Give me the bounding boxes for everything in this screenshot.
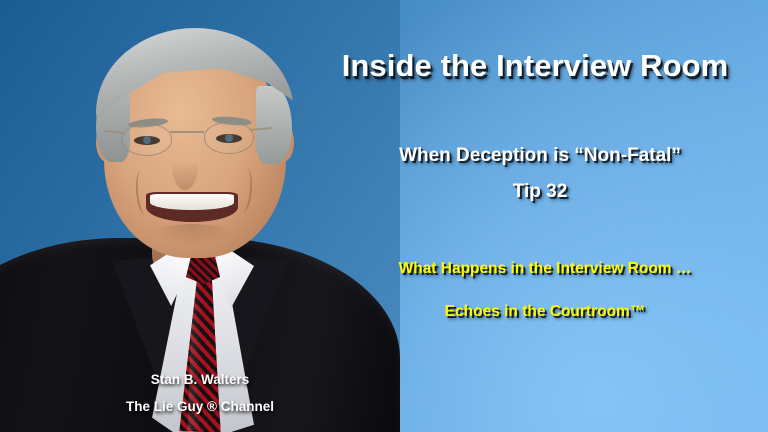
eyeglasses-bridge [170,131,204,133]
channel-name: The Lie Guy ® Channel [60,393,340,420]
tagline-line-2: Echoes in the Courtroom™ [340,290,750,333]
teeth [150,194,234,210]
speaker-credit: Stan B. Walters The Lie Guy ® Channel [60,366,340,420]
eyeglasses-lens-left [122,124,172,156]
subtitle-line-1: When Deception is “Non-Fatal” [330,138,750,174]
subtitle-line-2: Tip 32 [330,174,750,210]
mouth [146,192,238,222]
slide-tagline: What Happens in the Interview Room … Ech… [340,247,750,333]
presentation-slide: Inside the Interview Room When Deception… [0,0,768,432]
slide-title: Inside the Interview Room [310,48,760,84]
chin-shadow [150,224,234,246]
nose [172,142,198,190]
tagline-line-1: What Happens in the Interview Room … [340,247,750,290]
slide-subtitle: When Deception is “Non-Fatal” Tip 32 [330,138,750,210]
eyeglasses-lens-right [204,122,254,154]
speaker-name: Stan B. Walters [60,366,340,393]
